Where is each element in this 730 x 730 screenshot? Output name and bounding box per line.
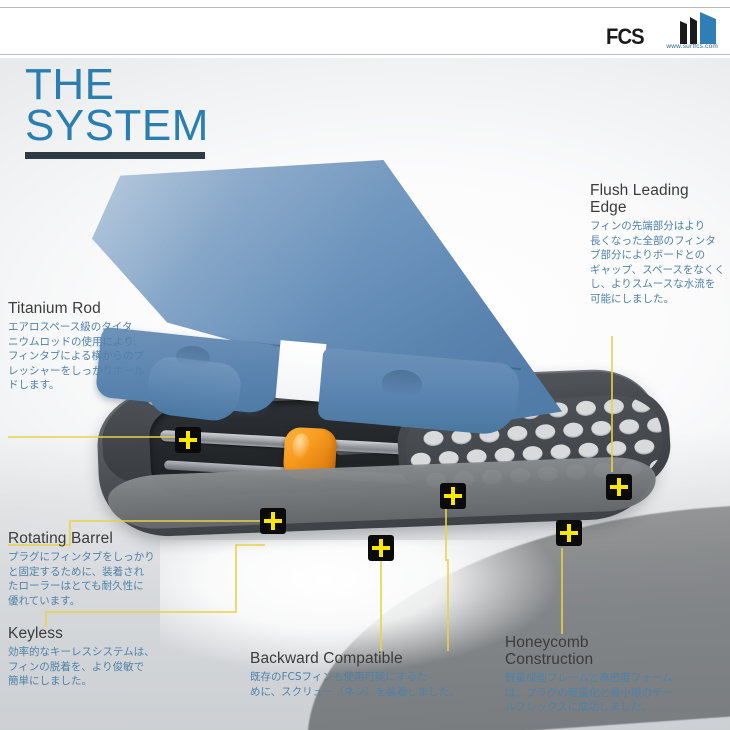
honeycomb-cell <box>619 419 640 435</box>
honeycomb-cell <box>535 424 556 440</box>
callout-title-titanium-rod: Titanium Rod <box>8 300 148 317</box>
callout-titanium-rod: Titanium Rod エアロスペース級のタイタニウムロッドの使用により、フィ… <box>8 300 148 393</box>
product-illustration <box>70 160 670 580</box>
callout-title-honeycomb-construction: HoneycombConstruction <box>505 634 730 668</box>
honeycomb-cell <box>634 439 655 455</box>
honeycomb-cell <box>606 441 627 457</box>
header-rule-top <box>0 7 730 8</box>
callout-body-titanium-rod: エアロスペース級のタイタニウムロッドの使用により、フィンタブによる横からのプレッ… <box>8 320 148 393</box>
marker-flush-leading-edge[interactable] <box>606 474 632 500</box>
callout-backward-compatible: Backward Compatible 既存のFCSフィンも使用可能にするために… <box>250 650 480 699</box>
page-header: FCS www.surffcs.com <box>0 0 730 58</box>
honeycomb-cell <box>578 442 599 458</box>
marker-keyless[interactable] <box>368 535 394 561</box>
callout-honeycomb-construction: HoneycombConstruction 軽量成型フレームと高密度フォームは、… <box>505 634 730 715</box>
callout-title-keyless: Keyless <box>8 625 158 642</box>
callout-body-rotating-barrel: プラグにフィンタブをしっかりと固定するために、装着されたローラーはとても耐久性に… <box>8 550 158 608</box>
callout-body-keyless: 効率的なキーレスシステムは、フィンの脱着を、より俊敏で簡単にしました。 <box>8 645 158 689</box>
honeycomb-cell <box>604 399 625 415</box>
poster-canvas: FCS www.surffcs.com THE SYSTEM <box>0 0 730 730</box>
callout-body-honeycomb-construction: 軽量成型フレームと高密度フォームは、プラグの軽量化と最小限のテールフレックスに成… <box>505 671 730 715</box>
callout-flush-leading-edge: Flush LeadingEdge フィンの先端部分はより長くなった全部のフィン… <box>590 182 730 306</box>
surfboard-fin <box>92 160 562 422</box>
brand-wordmark: FCS <box>606 24 644 50</box>
honeycomb-cell <box>507 425 528 441</box>
page-title-line2: SYSTEM <box>25 105 209 146</box>
fcs-bars-logo-icon <box>680 12 716 44</box>
honeycomb-cell <box>631 397 652 413</box>
barrel-highlight <box>292 433 311 460</box>
marker-rotating-barrel[interactable] <box>260 508 286 534</box>
callout-title-rotating-barrel: Rotating Barrel <box>8 530 158 547</box>
honeycomb-cell <box>423 430 444 446</box>
callout-keyless: Keyless 効率的なキーレスシステムは、フィンの脱着を、より俊敏で簡単にしま… <box>8 625 158 689</box>
callout-rotating-barrel: Rotating Barrel プラグにフィンタブをしっかりと固定するために、装… <box>8 530 158 608</box>
honeycomb-cell <box>563 422 584 438</box>
fcs-logo[interactable]: FCS www.surffcs.com <box>606 12 718 54</box>
marker-honeycomb[interactable] <box>556 520 582 546</box>
brand-url: www.surffcs.com <box>666 43 718 50</box>
page-title: THE SYSTEM <box>25 64 209 146</box>
callout-title-flush-leading-edge: Flush LeadingEdge <box>590 182 730 216</box>
callout-title-backward-compatible: Backward Compatible <box>250 650 480 667</box>
marker-backward-compatible[interactable] <box>440 483 466 509</box>
honeycomb-cell <box>591 420 612 436</box>
title-underline-bar <box>25 152 205 159</box>
callout-body-backward-compatible: 既存のFCSフィンも使用可能にするために、スクリュー（ネジ）を装着しました。 <box>250 670 480 699</box>
callout-body-flush-leading-edge: フィンの先端部分はより長くなった全部のフィンタブ部分によりボードとのギャップ、ス… <box>590 219 730 306</box>
marker-titanium-rod[interactable] <box>175 427 201 453</box>
honeycomb-cell <box>550 444 571 460</box>
honeycomb-cell <box>576 400 597 416</box>
header-rule-bottom <box>0 54 730 55</box>
